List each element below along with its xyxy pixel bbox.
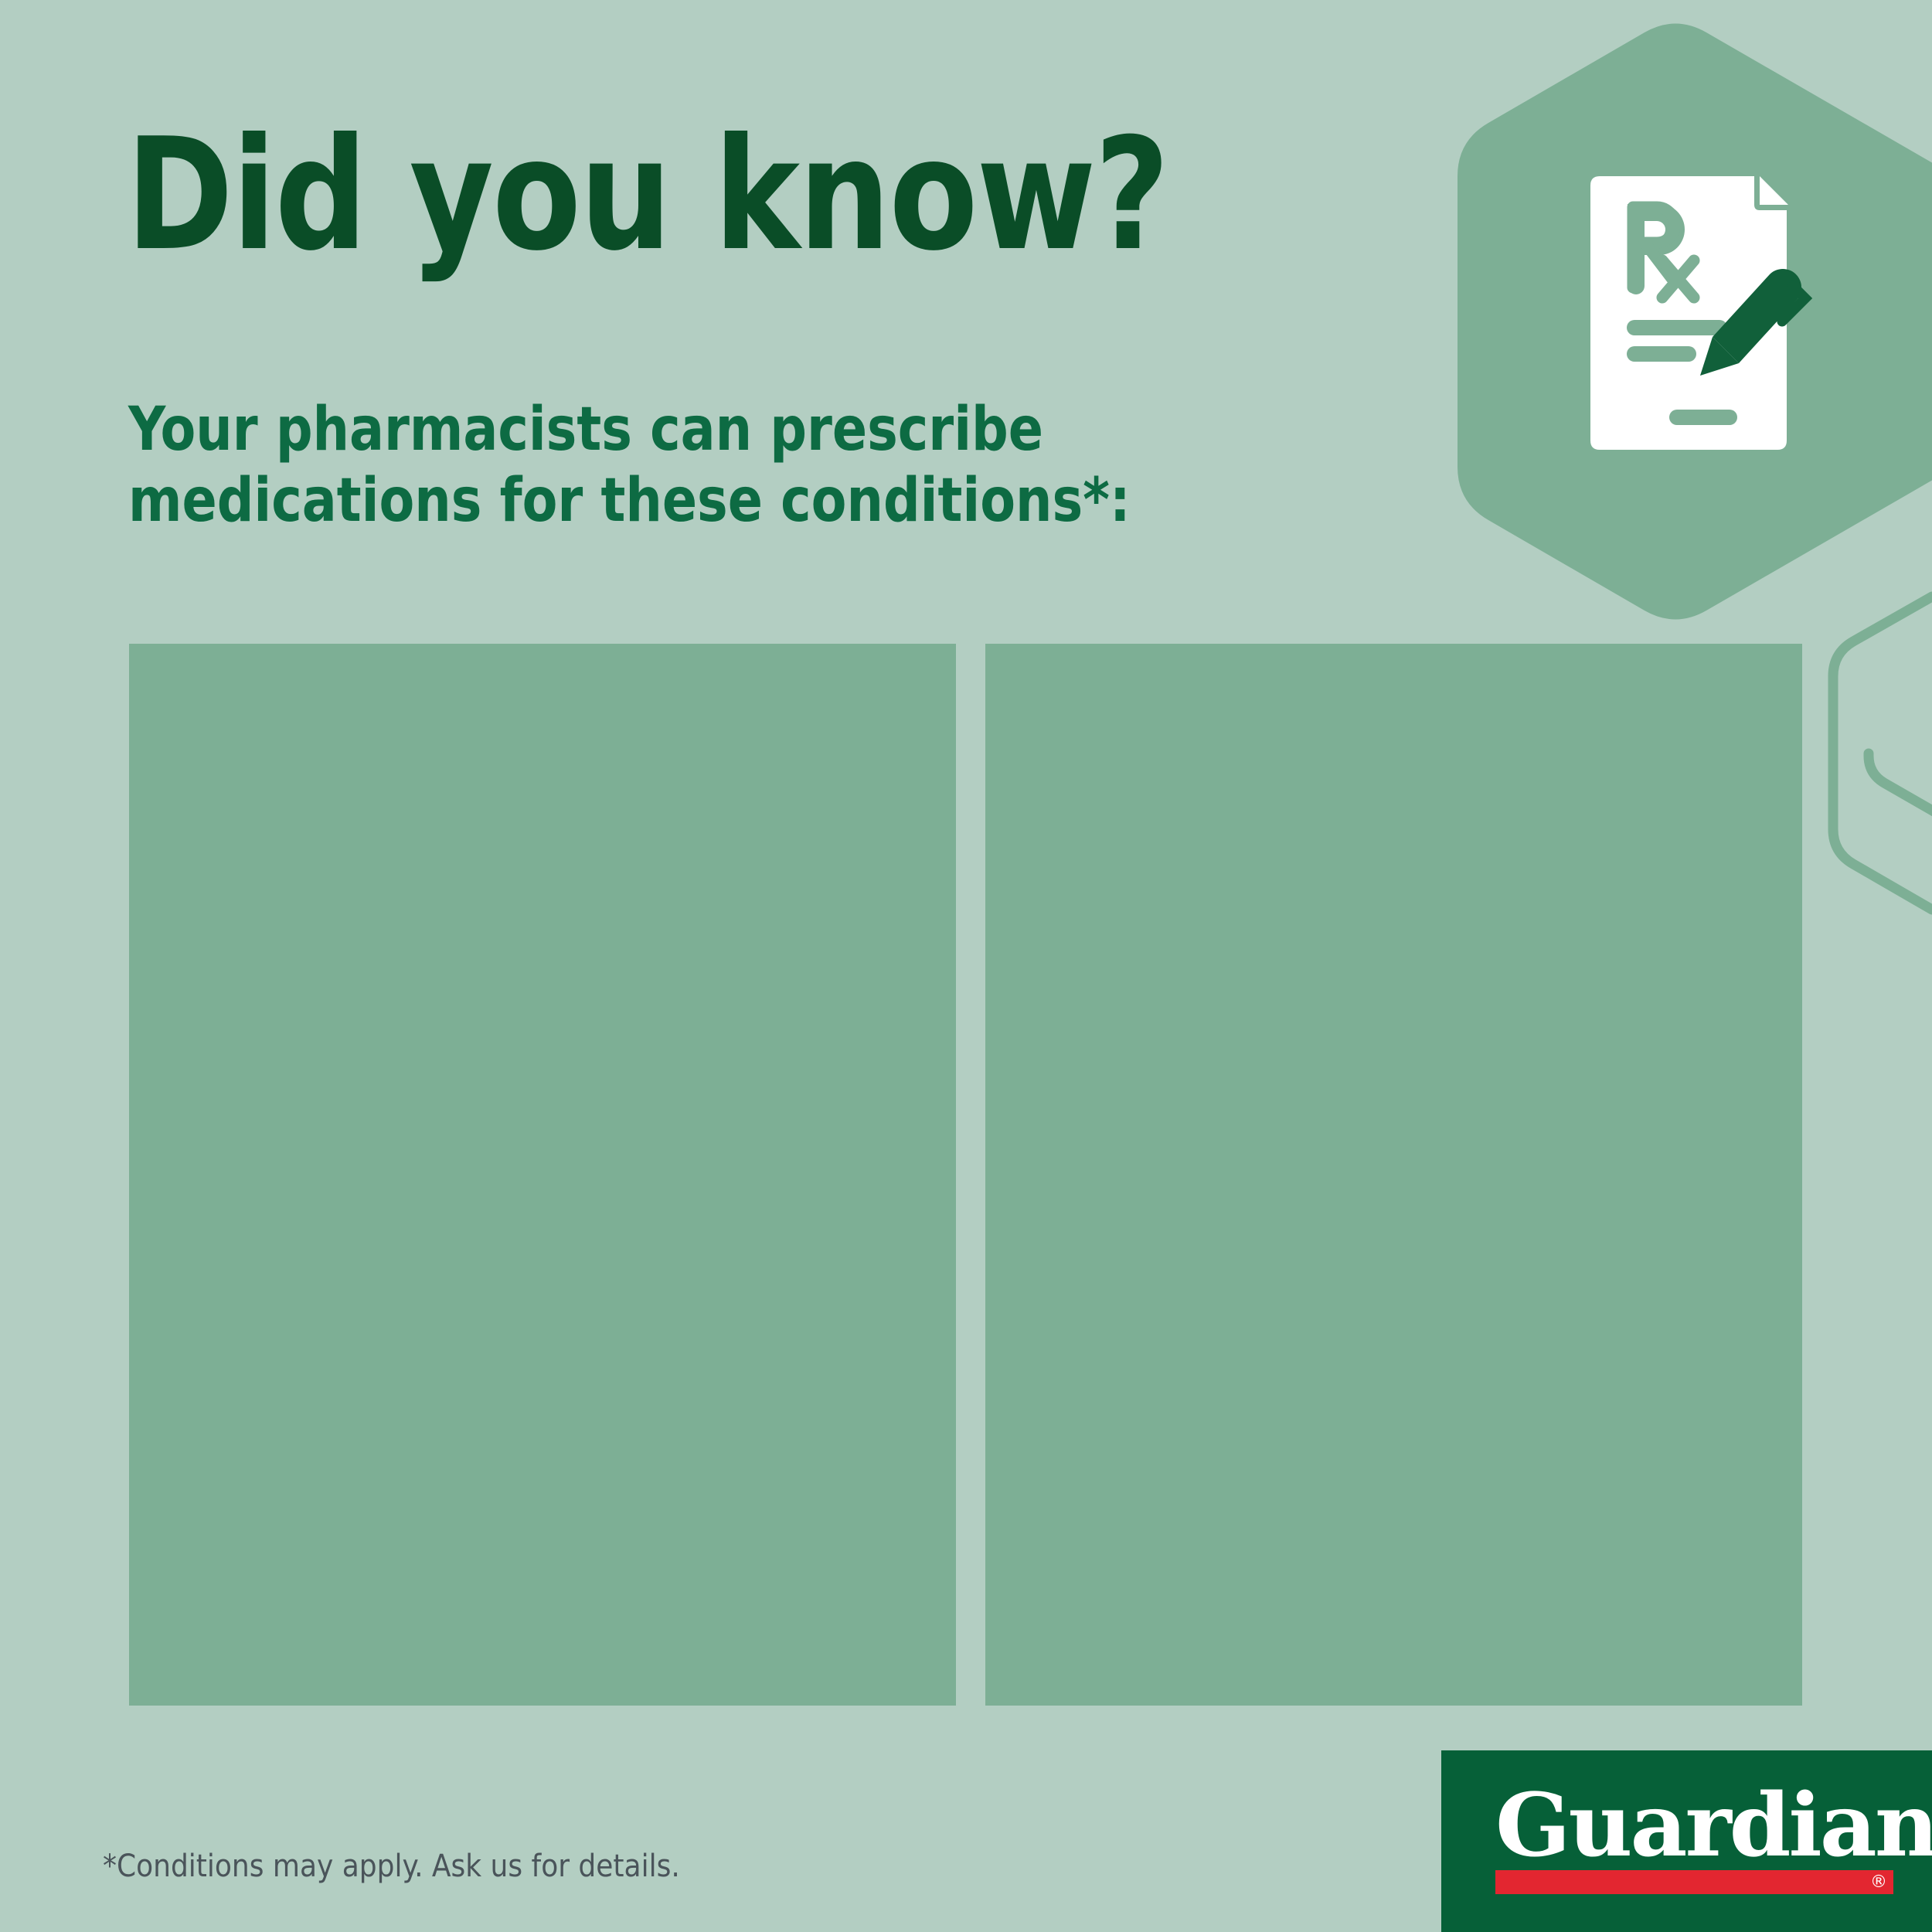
rx-letter-r-loop — [1633, 207, 1675, 243]
guardian-red-bar: ® — [1495, 1870, 1893, 1894]
conditions-panel-left — [129, 644, 956, 1706]
rx-letter-x — [1662, 260, 1694, 298]
page-title: Did you know? — [126, 122, 1204, 269]
pen-barrel — [1713, 269, 1801, 363]
guardian-wordmark: Guardian — [1495, 1783, 1932, 1869]
filled-hexagon — [1458, 24, 1932, 620]
rx-letter-r — [1628, 204, 1685, 294]
conditions-panels — [129, 644, 1802, 1706]
subheading-line-1: Your pharmacists can prescribe — [128, 394, 1230, 465]
document-line-long — [1627, 320, 1727, 335]
pen-icon — [1700, 269, 1805, 376]
subheading: Your pharmacists can prescribe medicatio… — [128, 394, 1230, 536]
document-signature-line — [1669, 410, 1737, 425]
document-line-short — [1627, 346, 1696, 362]
pen-tip — [1700, 337, 1739, 376]
registered-trademark-icon: ® — [1870, 1874, 1887, 1891]
guardian-logo: Guardian ® — [1441, 1750, 1932, 1932]
outlined-hexagon-visible-edge — [1833, 597, 1932, 910]
conditions-panel-right — [985, 644, 1802, 1706]
outlined-hexagon — [1869, 641, 1932, 895]
document-fold-corner — [1760, 176, 1788, 205]
document-page-shape — [1590, 176, 1787, 450]
rx-letter-r-leg — [1645, 243, 1672, 278]
poster-canvas: Did you know? Your pharmacists can presc… — [0, 0, 1932, 1932]
rx-prescription-document-icon — [1590, 176, 1805, 450]
footnote-disclaimer: *Conditions may apply. Ask us for detail… — [103, 1848, 680, 1885]
pen-clip — [1782, 286, 1805, 321]
subheading-line-2: medications for these conditions*: — [128, 465, 1230, 536]
